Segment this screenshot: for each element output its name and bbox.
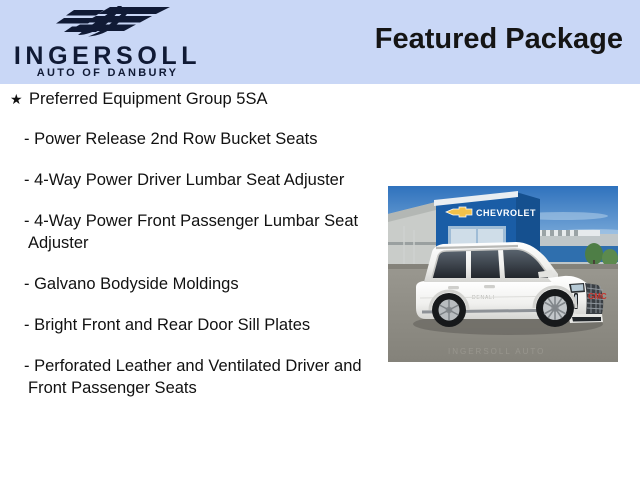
svg-text:CHEVROLET: CHEVROLET bbox=[476, 208, 536, 218]
list-item: - Power Release 2nd Row Bucket Seats bbox=[0, 128, 382, 150]
dealer-name: INGERSOLL bbox=[0, 44, 215, 69]
vehicle-photo: CHEVROLET bbox=[388, 186, 618, 362]
star-bullet-icon: ★ bbox=[10, 88, 29, 110]
feature-list: ★ Preferred Equipment Group 5SA - Power … bbox=[0, 88, 382, 399]
list-item: - Galvano Bodyside Moldings bbox=[0, 273, 382, 295]
page-header: INGERSOLL AUTO OF DANBURY Featured Packa… bbox=[0, 0, 640, 84]
svg-text:DENALI: DENALI bbox=[472, 295, 495, 301]
feature-heading-label: Preferred Equipment Group 5SA bbox=[29, 88, 267, 110]
page-content: ★ Preferred Equipment Group 5SA - Power … bbox=[0, 84, 640, 480]
feature-heading-row: ★ Preferred Equipment Group 5SA bbox=[0, 88, 382, 110]
list-item: - Perforated Leather and Ventilated Driv… bbox=[0, 355, 382, 399]
ingersoll-wing-emblem-icon bbox=[52, 5, 174, 39]
svg-text:INGERSOLL AUTO: INGERSOLL AUTO bbox=[448, 347, 545, 356]
list-item: - 4-Way Power Driver Lumbar Seat Adjuste… bbox=[0, 169, 382, 191]
dealer-tagline: AUTO OF DANBURY bbox=[0, 68, 215, 79]
page-title: Featured Package bbox=[375, 23, 623, 56]
list-item: - Bright Front and Rear Door Sill Plates bbox=[0, 314, 382, 336]
list-item: - 4-Way Power Front Passenger Lumbar Sea… bbox=[0, 210, 382, 254]
dealer-logo: INGERSOLL AUTO OF DANBURY bbox=[0, 2, 215, 82]
gmc-badge: GMC bbox=[588, 292, 607, 301]
